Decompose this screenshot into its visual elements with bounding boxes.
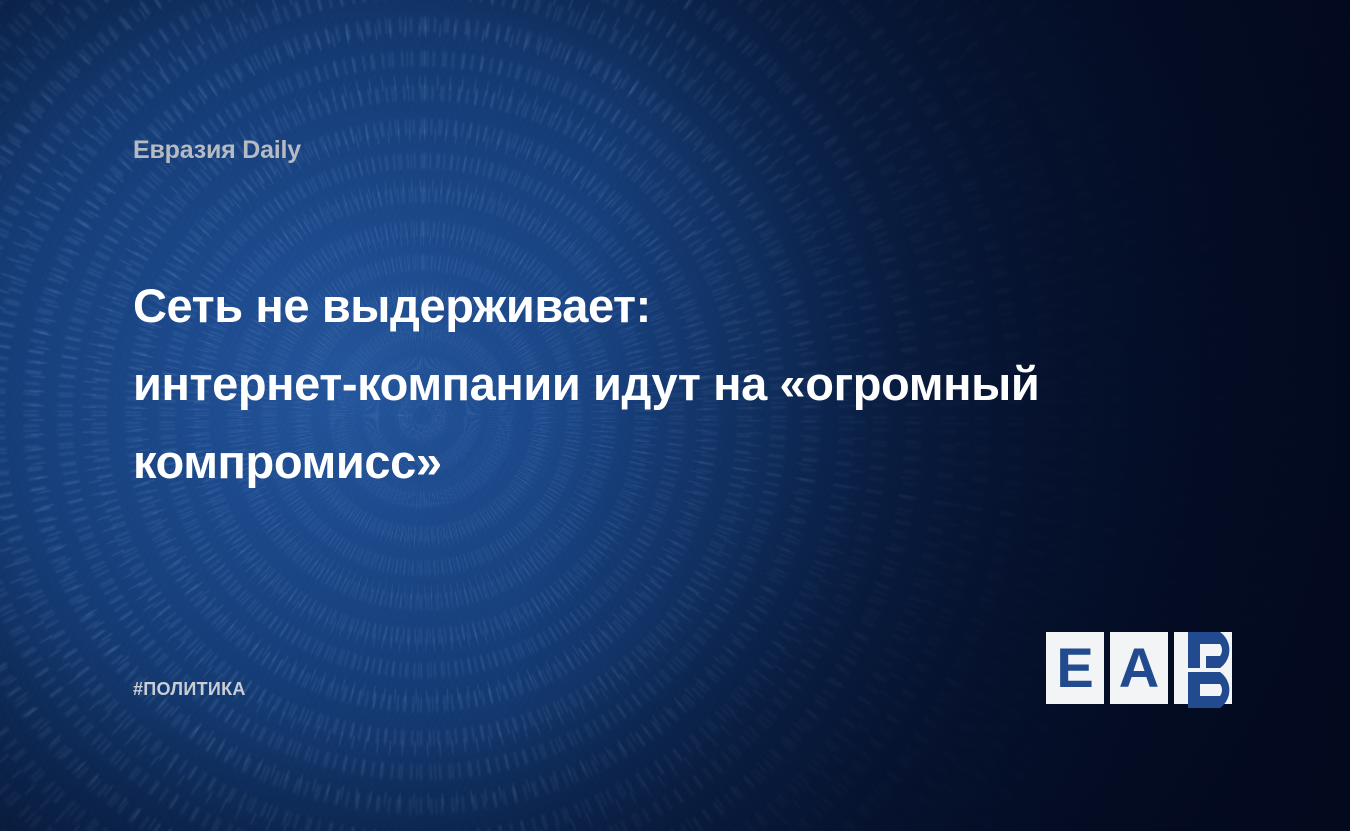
eadaily-logo[interactable]: E A bbox=[1046, 632, 1232, 704]
social-share-card: Евразия Daily Сеть не выдерживает: интер… bbox=[0, 0, 1350, 831]
headline-line-3: компромисс» bbox=[133, 423, 1253, 501]
logo-tile-d bbox=[1174, 632, 1232, 704]
headline-line-1: Сеть не выдерживает: bbox=[133, 267, 1253, 345]
headline-line-2: интернет-компании идут на «огромный bbox=[133, 345, 1253, 423]
logo-tile-a: A bbox=[1110, 632, 1168, 704]
letter-d-split-icon bbox=[1180, 628, 1260, 708]
logo-letter-a: A bbox=[1119, 640, 1159, 696]
category-hashtag[interactable]: #ПОЛИТИКА bbox=[133, 679, 246, 700]
logo-letter-e: E bbox=[1056, 640, 1093, 696]
logo-tile-e: E bbox=[1046, 632, 1104, 704]
page-title: Сеть не выдерживает: интернет-компании и… bbox=[133, 267, 1253, 501]
brand-wordmark: Евразия Daily bbox=[133, 136, 301, 165]
card-content: Евразия Daily Сеть не выдерживает: интер… bbox=[0, 0, 1350, 831]
